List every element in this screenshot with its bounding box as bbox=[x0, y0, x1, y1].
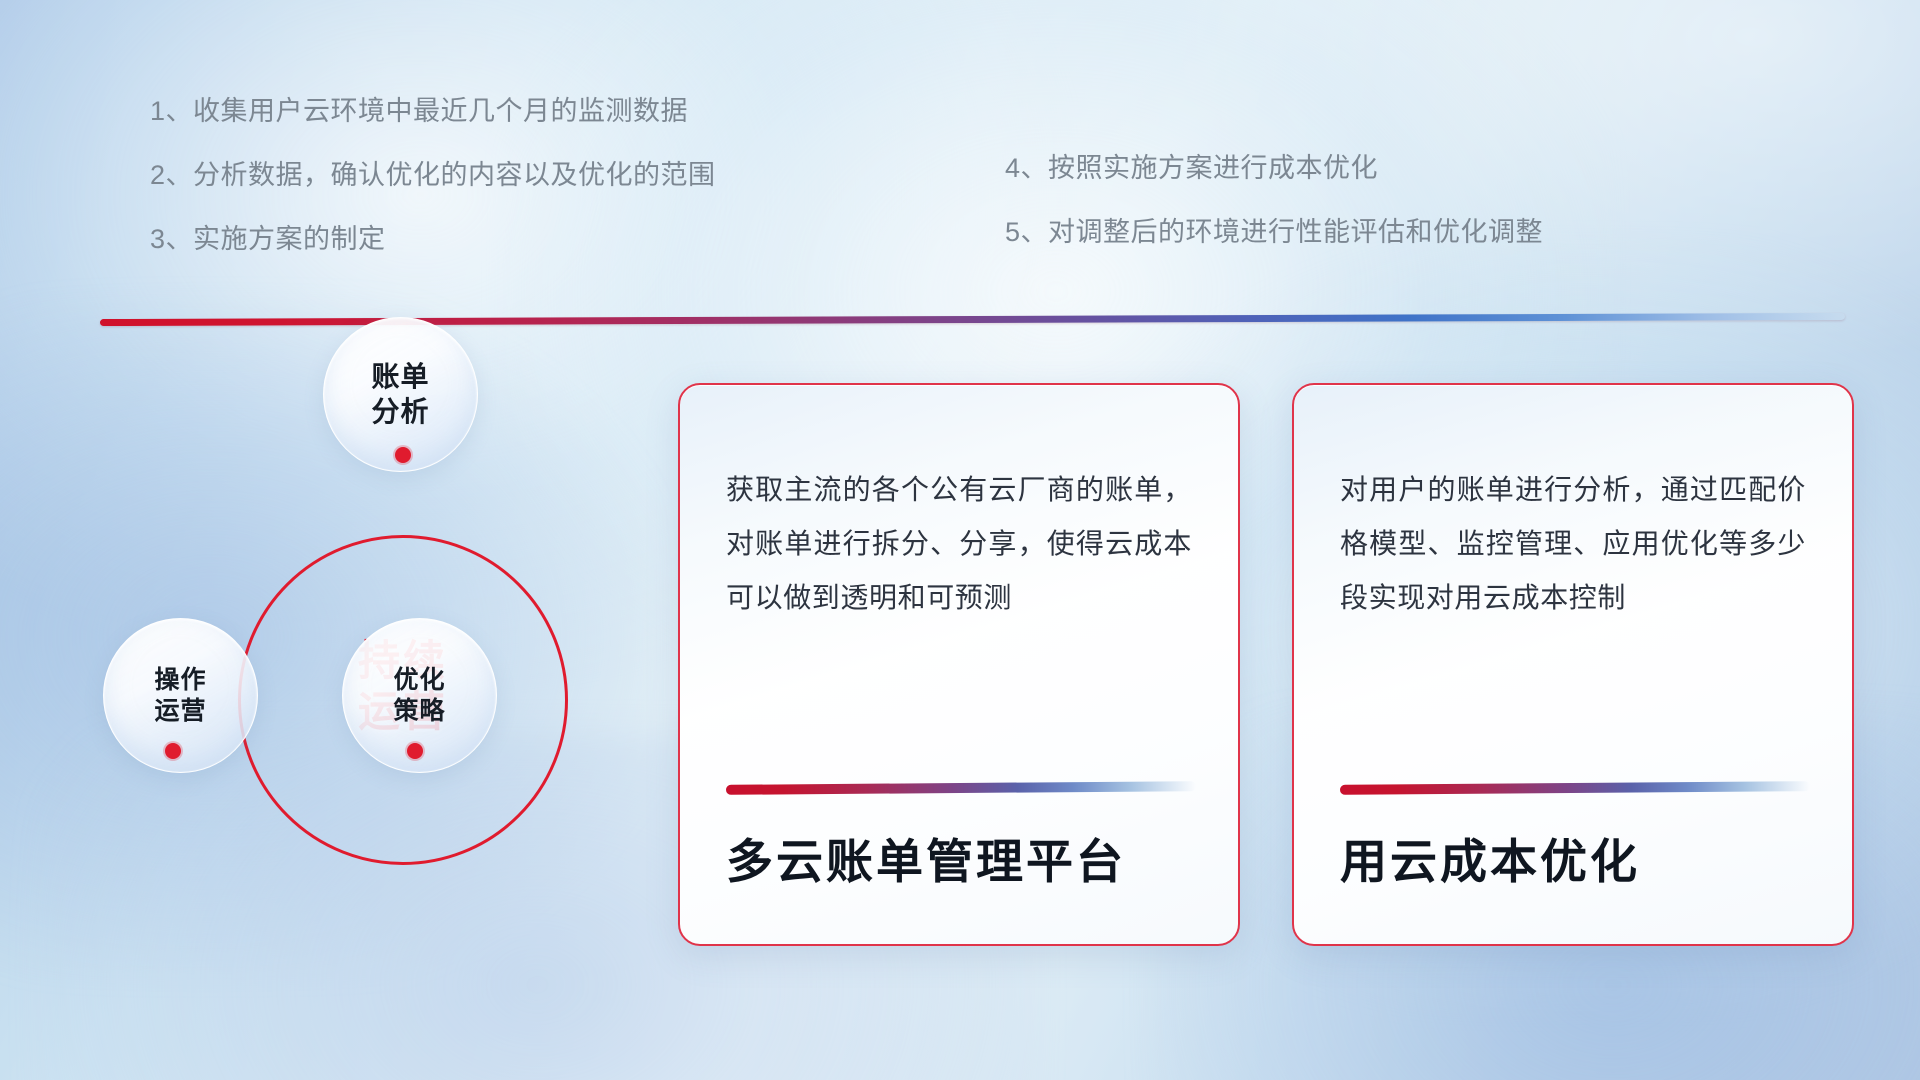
process-step-4: 4、按照实施方案进行成本优化 bbox=[1005, 155, 1543, 182]
node-dot-top-icon bbox=[395, 447, 411, 463]
process-step-3: 3、实施方案的制定 bbox=[150, 226, 716, 253]
card-2-title: 用云成本优化 bbox=[1340, 823, 1806, 944]
continuous-operations-diagram: 持续 运营 账单 分析 操作 运营 优化 策略 bbox=[90, 340, 610, 980]
node-dot-bottom-right-icon bbox=[407, 743, 423, 759]
bubble-optimization-strategy-line-2: 策略 bbox=[393, 697, 445, 725]
bubble-billing-analysis-line-2: 分析 bbox=[371, 396, 429, 427]
card-2-accent-rule bbox=[1340, 781, 1810, 795]
process-step-1: 1、收集用户云环境中最近几个月的监测数据 bbox=[150, 98, 716, 125]
card-2-body: 对用户的账单进行分析，通过匹配价格模型、监控管理、应用优化等多少段实现对用云成本… bbox=[1340, 463, 1806, 625]
feature-cards: 获取主流的各个公有云厂商的账单，对账单进行拆分、分享，使得云成本可以做到透明和可… bbox=[678, 383, 1868, 946]
bubble-optimization-strategy-line-1: 优化 bbox=[393, 666, 445, 694]
card-1-body: 获取主流的各个公有云厂商的账单，对账单进行拆分、分享，使得云成本可以做到透明和可… bbox=[726, 463, 1192, 625]
card-1-title: 多云账单管理平台 bbox=[726, 823, 1192, 944]
card-1-accent-rule bbox=[726, 781, 1196, 795]
process-steps-right-column: 4、按照实施方案进行成本优化 5、对调整后的环境进行性能评估和优化调整 bbox=[1005, 155, 1543, 283]
process-step-5: 5、对调整后的环境进行性能评估和优化调整 bbox=[1005, 219, 1543, 246]
process-steps-left-column: 1、收集用户云环境中最近几个月的监测数据 2、分析数据，确认优化的内容以及优化的… bbox=[150, 98, 716, 290]
bubble-operations-line-2: 运营 bbox=[154, 697, 206, 725]
bubble-operations-line-1: 操作 bbox=[154, 666, 206, 694]
card-cloud-cost-optimization[interactable]: 对用户的账单进行分析，通过匹配价格模型、监控管理、应用优化等多少段实现对用云成本… bbox=[1292, 383, 1854, 946]
node-dot-bottom-left-icon bbox=[165, 743, 181, 759]
process-step-2: 2、分析数据，确认优化的内容以及优化的范围 bbox=[150, 162, 716, 189]
card-multi-cloud-billing-platform[interactable]: 获取主流的各个公有云厂商的账单，对账单进行拆分、分享，使得云成本可以做到透明和可… bbox=[678, 383, 1240, 946]
bubble-billing-analysis-line-1: 账单 bbox=[371, 361, 429, 392]
